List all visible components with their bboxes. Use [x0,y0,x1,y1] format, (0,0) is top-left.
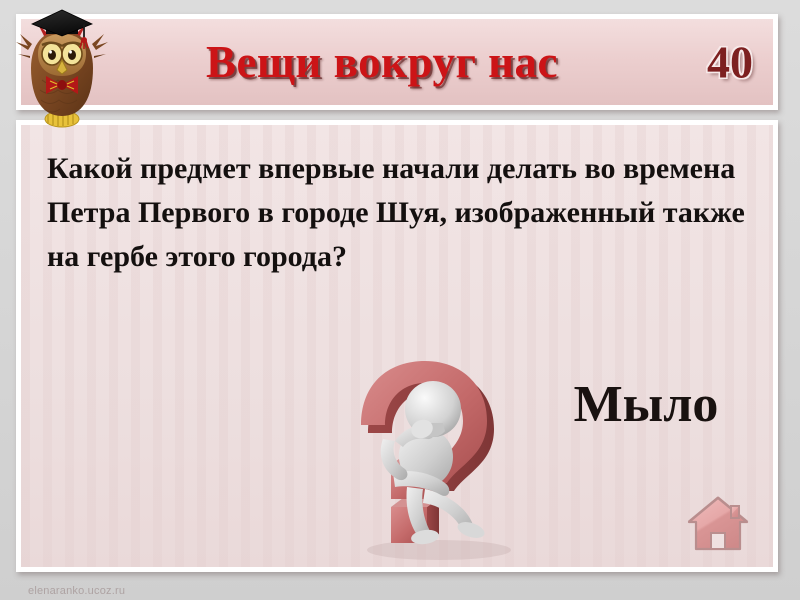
quiz-slide: Вещи вокруг нас 40 [0,0,800,600]
points-badge: 40 [707,36,753,89]
category-title: Вещи вокруг нас [21,36,773,88]
question-mark-thinker-icon [321,347,551,567]
answer-text: Мыло [526,375,766,434]
question-body-panel: Какой предмет впервые начали делать во в… [16,120,778,572]
site-watermark: elenaranko.ucoz.ru [28,585,125,597]
category-header-panel: Вещи вокруг нас 40 [16,14,778,110]
question-text: Какой предмет впервые начали делать во в… [47,147,747,278]
home-icon[interactable] [685,495,751,553]
category-header-inner: Вещи вокруг нас 40 [21,19,773,105]
owl-graduate-icon [14,6,126,128]
